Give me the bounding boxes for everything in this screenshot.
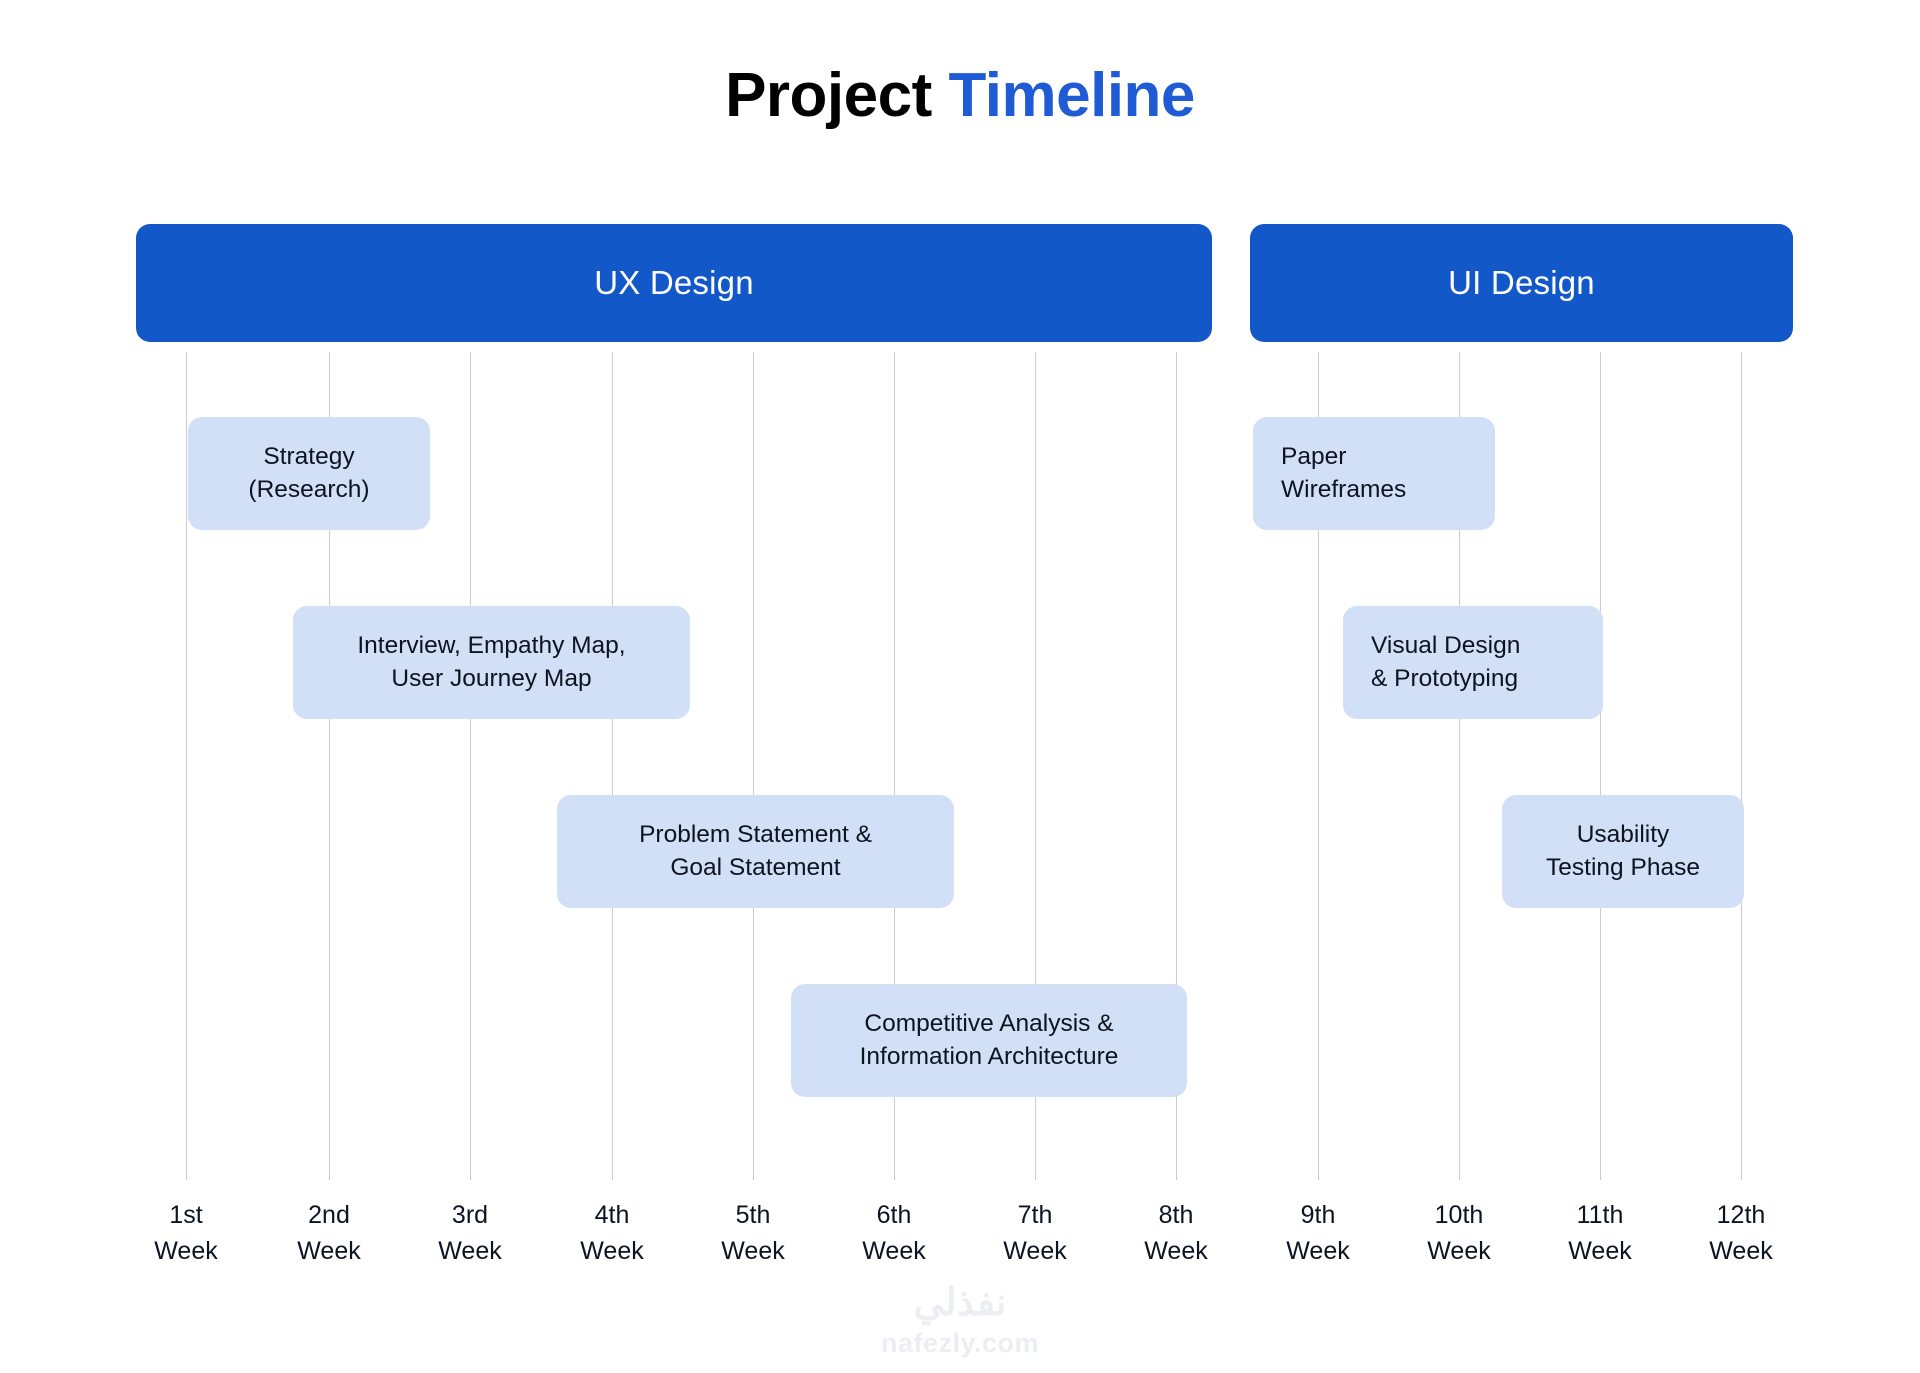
week-label-word: Week xyxy=(1530,1234,1670,1270)
week-label-number: 8th xyxy=(1106,1198,1246,1234)
week-label-number: 3rd xyxy=(400,1198,540,1234)
page-title-primary: Project xyxy=(725,61,948,130)
week-label-number: 10th xyxy=(1389,1198,1529,1234)
task-card-label: Competitive Analysis & Information Archi… xyxy=(860,1008,1119,1072)
week-label-3: 3rdWeek xyxy=(400,1198,540,1269)
week-label-number: 1st xyxy=(116,1198,256,1234)
watermark-arabic-text: نفذلي xyxy=(0,1282,1920,1326)
task-card-label: Interview, Empathy Map, User Journey Map xyxy=(357,630,625,694)
week-label-number: 7th xyxy=(965,1198,1105,1234)
page-title-accent: Timeline xyxy=(949,61,1195,130)
task-card-problem-goal-statement[interactable]: Problem Statement & Goal Statement xyxy=(557,795,954,908)
week-label-word: Week xyxy=(400,1234,540,1270)
week-label-5: 5thWeek xyxy=(683,1198,823,1269)
task-card-usability-testing[interactable]: Usability Testing Phase xyxy=(1502,795,1744,908)
task-card-paper-wireframes[interactable]: Paper Wireframes xyxy=(1253,417,1495,530)
gridline-week-3 xyxy=(470,352,471,1180)
week-label-number: 2nd xyxy=(259,1198,399,1234)
gridline-week-5 xyxy=(753,352,754,1180)
week-label-word: Week xyxy=(965,1234,1105,1270)
week-label-number: 11th xyxy=(1530,1198,1670,1234)
week-label-1: 1stWeek xyxy=(116,1198,256,1269)
week-label-word: Week xyxy=(116,1234,256,1270)
week-label-word: Week xyxy=(683,1234,823,1270)
task-card-label: Usability Testing Phase xyxy=(1546,819,1700,883)
week-label-number: 5th xyxy=(683,1198,823,1234)
gridline-week-4 xyxy=(612,352,613,1180)
week-label-word: Week xyxy=(1106,1234,1246,1270)
phase-header-ux-label: UX Design xyxy=(594,264,754,302)
watermark: نفذلي nafezly.com xyxy=(0,1282,1920,1361)
page-title: Project Timeline xyxy=(0,60,1920,131)
task-card-visual-design-prototyping[interactable]: Visual Design & Prototyping xyxy=(1343,606,1603,719)
gridline-week-11 xyxy=(1600,352,1601,1180)
phase-header-ui-label: UI Design xyxy=(1448,264,1595,302)
week-label-word: Week xyxy=(542,1234,682,1270)
week-label-10: 10thWeek xyxy=(1389,1198,1529,1269)
gridline-week-1 xyxy=(186,352,187,1180)
week-label-number: 4th xyxy=(542,1198,682,1234)
week-label-7: 7thWeek xyxy=(965,1198,1105,1269)
week-label-word: Week xyxy=(1389,1234,1529,1270)
week-label-word: Week xyxy=(1248,1234,1388,1270)
week-label-9: 9thWeek xyxy=(1248,1198,1388,1269)
task-card-label: Visual Design & Prototyping xyxy=(1371,630,1520,694)
week-label-number: 9th xyxy=(1248,1198,1388,1234)
week-label-12: 12thWeek xyxy=(1671,1198,1811,1269)
week-label-6: 6thWeek xyxy=(824,1198,964,1269)
timeline-canvas: Project Timeline UX Design UI Design Str… xyxy=(0,0,1920,1373)
phase-header-ux-design[interactable]: UX Design xyxy=(136,224,1212,342)
week-label-word: Week xyxy=(824,1234,964,1270)
week-label-number: 6th xyxy=(824,1198,964,1234)
week-label-11: 11thWeek xyxy=(1530,1198,1670,1269)
task-card-label: Paper Wireframes xyxy=(1281,441,1406,505)
week-label-8: 8thWeek xyxy=(1106,1198,1246,1269)
task-card-interview-empathy[interactable]: Interview, Empathy Map, User Journey Map xyxy=(293,606,690,719)
week-label-word: Week xyxy=(259,1234,399,1270)
task-card-label: Problem Statement & Goal Statement xyxy=(639,819,872,883)
task-card-competitive-analysis-ia[interactable]: Competitive Analysis & Information Archi… xyxy=(791,984,1187,1097)
task-card-strategy-research[interactable]: Strategy (Research) xyxy=(188,417,430,530)
week-label-word: Week xyxy=(1671,1234,1811,1270)
watermark-domain: nafezly.com xyxy=(0,1326,1920,1361)
gridline-week-12 xyxy=(1741,352,1742,1180)
week-label-number: 12th xyxy=(1671,1198,1811,1234)
week-label-4: 4thWeek xyxy=(542,1198,682,1269)
task-card-label: Strategy (Research) xyxy=(248,441,369,505)
week-label-2: 2ndWeek xyxy=(259,1198,399,1269)
phase-header-ui-design[interactable]: UI Design xyxy=(1250,224,1793,342)
